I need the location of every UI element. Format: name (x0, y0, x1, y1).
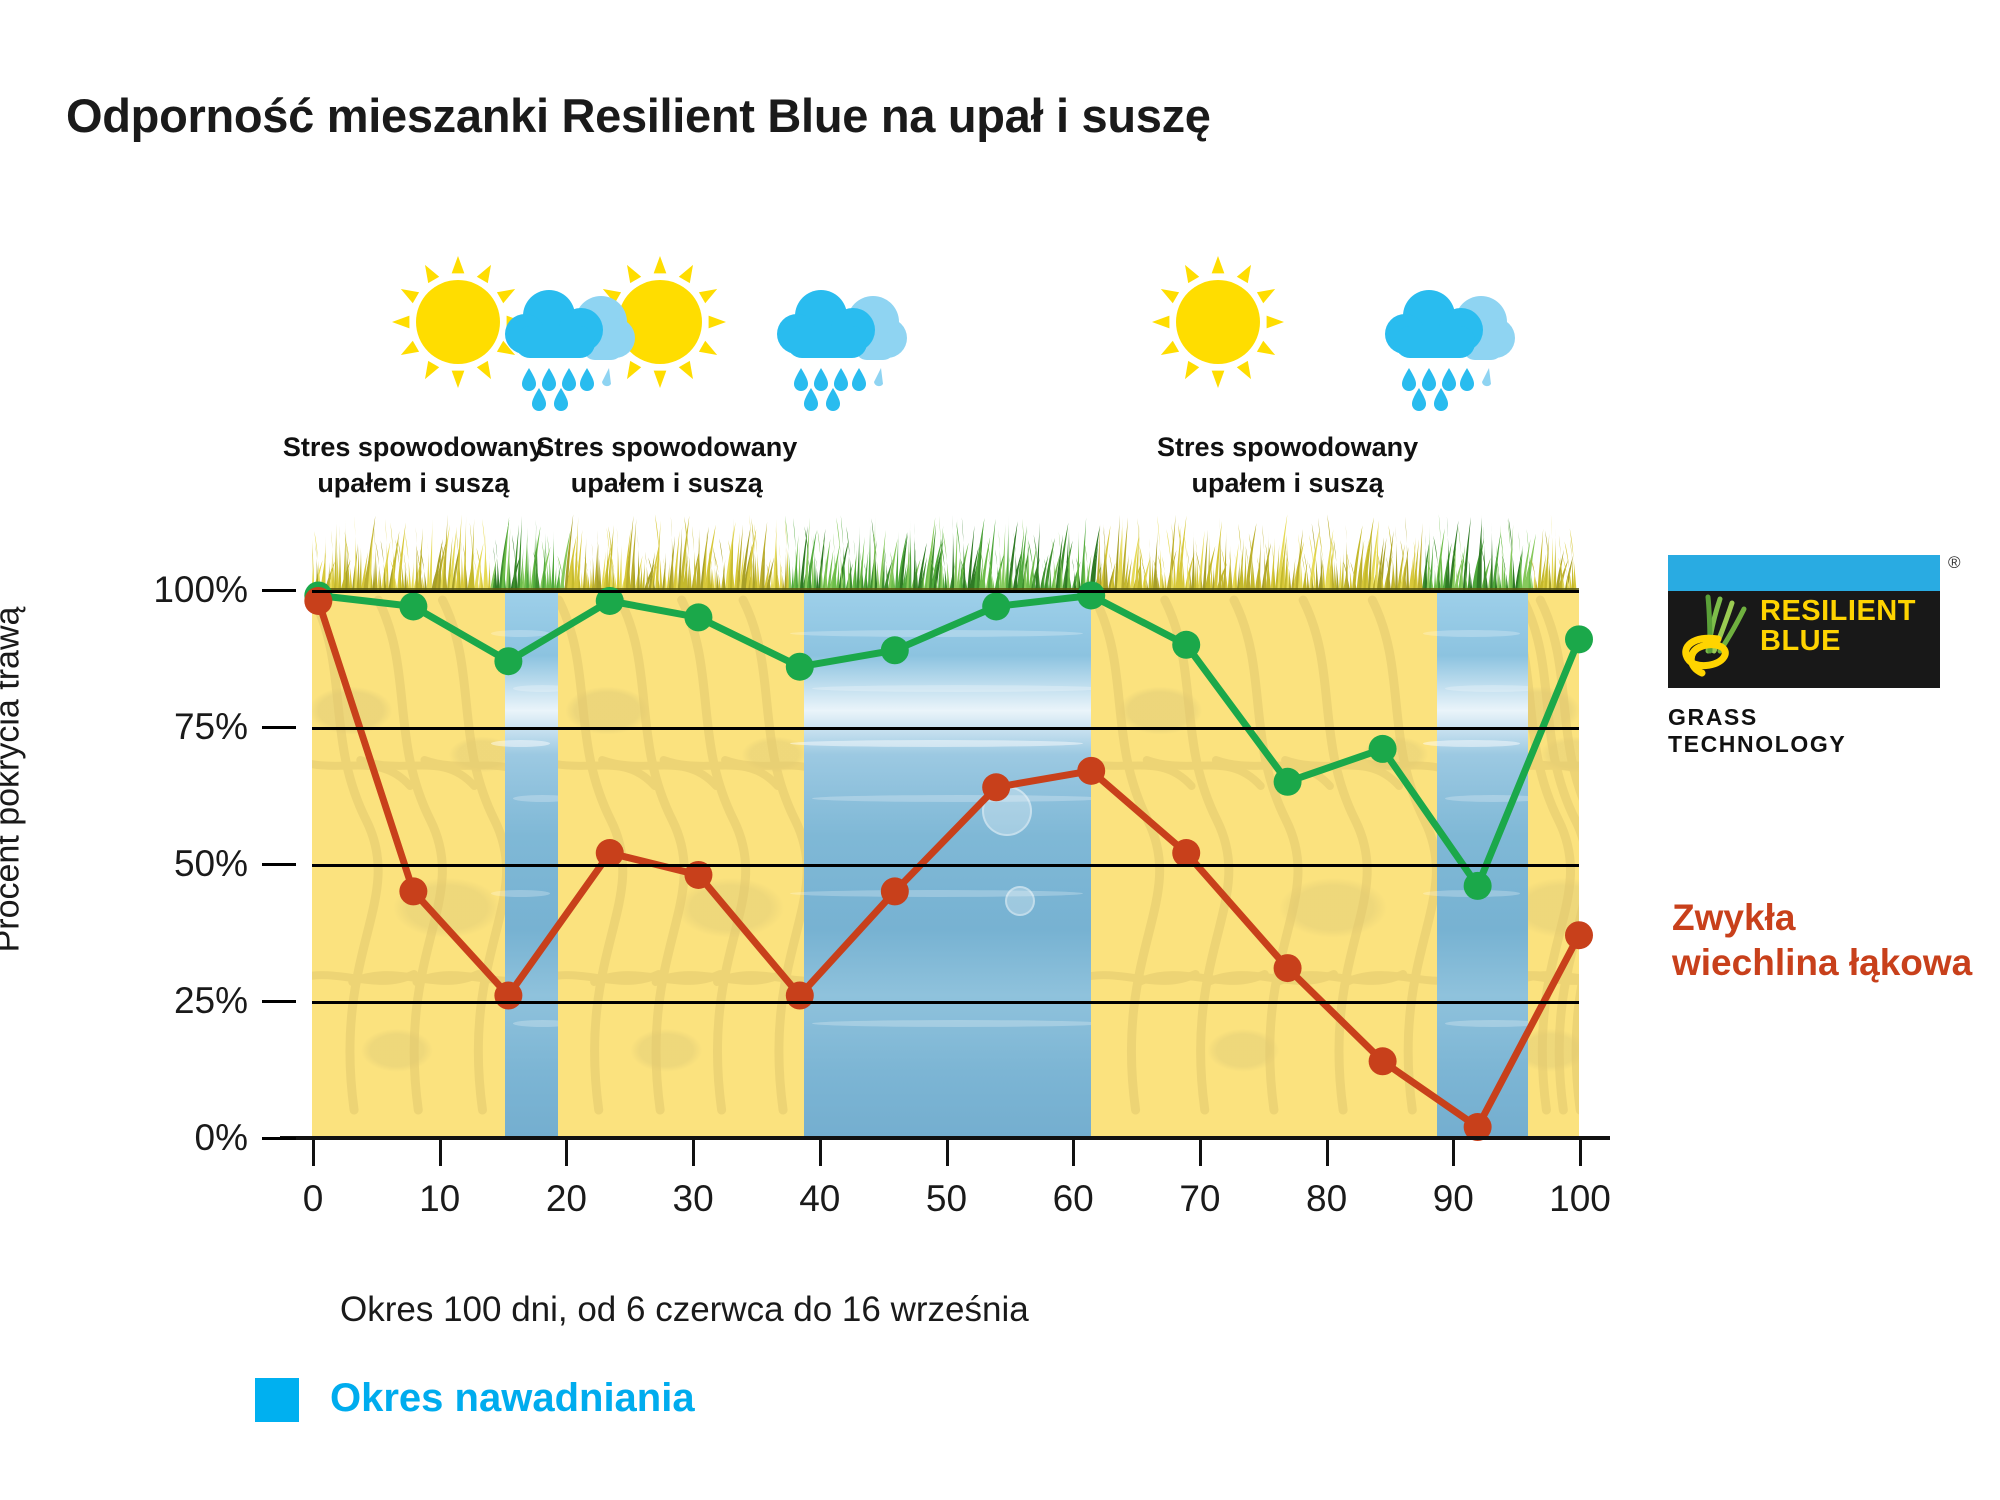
sun-icon (1148, 252, 1288, 392)
gridline (312, 727, 1579, 730)
x-axis-tick (1579, 1140, 1582, 1166)
stress-label-line2: upałem i suszą (1138, 466, 1438, 502)
x-axis-tick (1199, 1140, 1202, 1166)
logo-name-line1: RESILIENT (1760, 597, 1916, 627)
x-axis-tick-label: 10 (419, 1178, 460, 1220)
gridline (312, 1001, 1579, 1004)
rain-cloud-icon (769, 272, 919, 422)
page-title: Odporność mieszanki Resilient Blue na up… (66, 88, 1211, 143)
logo-wordmark: RESILIENT BLUE (1760, 597, 1916, 656)
grass-swirl-icon (1674, 591, 1770, 687)
x-axis-tick-label: 70 (1179, 1178, 1220, 1220)
logo-box: RESILIENT BLUE ® (1668, 555, 1940, 688)
stress-label-line1: Stres spowodowany (1138, 430, 1438, 466)
logo-name-line2: BLUE (1760, 627, 1916, 657)
x-axis-tick-label: 0 (303, 1178, 324, 1220)
stress-label-line2: upałem i suszą (517, 466, 817, 502)
rain-cloud-icon (1377, 272, 1527, 422)
grass-blades (312, 508, 1579, 594)
x-axis-tick-label: 80 (1306, 1178, 1347, 1220)
x-axis-tick (439, 1140, 442, 1166)
rain-cloud-icon (497, 272, 647, 422)
irrigation-legend-swatch (255, 1378, 299, 1422)
ordinary-grass-series-label: Zwykła wiechlina łąkowa (1672, 895, 1972, 985)
y-axis-tick-label: 0% (108, 1117, 248, 1159)
turf-strip (312, 508, 1579, 594)
stress-label-line1: Stres spowodowany (517, 430, 817, 466)
y-axis-title: Procent pokrycia trawą (0, 530, 28, 1030)
irrigation-legend-label: Okres nawadniania (330, 1376, 695, 1421)
y-axis-tick-label: 100% (108, 569, 248, 611)
x-axis-tick (312, 1140, 315, 1166)
heat-drought-stress-label: Stres spowodowanyupałem i suszą (517, 430, 817, 501)
x-axis-tick-label: 30 (673, 1178, 714, 1220)
ordinary-grass-label-line2: wiechlina łąkowa (1672, 940, 1972, 985)
x-axis-tick (1326, 1140, 1329, 1166)
resilient-blue-logo: RESILIENT BLUE ® GRASS TECHNOLOGY (1668, 555, 1940, 758)
x-axis-tick (946, 1140, 949, 1166)
y-axis-tick (262, 589, 296, 592)
x-axis-tick (1072, 1140, 1075, 1166)
heat-drought-stress-label: Stres spowodowanyupałem i suszą (1138, 430, 1438, 501)
registered-mark: ® (1948, 553, 1961, 573)
x-axis-title: Okres 100 dni, od 6 czerwca do 16 wrześn… (340, 1290, 1029, 1330)
ordinary-grass-label-line1: Zwykła (1672, 895, 1972, 940)
x-axis-tick-label: 100 (1549, 1178, 1611, 1220)
x-axis-tick-label: 50 (926, 1178, 967, 1220)
y-axis-tick-label: 75% (108, 706, 248, 748)
x-axis-tick (1452, 1140, 1455, 1166)
logo-tagline: GRASS TECHNOLOGY (1668, 704, 1940, 758)
x-axis-tick-label: 90 (1433, 1178, 1474, 1220)
y-axis-tick (262, 1000, 296, 1003)
y-axis-tick-label: 25% (108, 980, 248, 1022)
x-axis-tick-label: 60 (1053, 1178, 1094, 1220)
gridline (312, 590, 1579, 593)
x-axis-tick (819, 1140, 822, 1166)
logo-blue-band (1668, 555, 1940, 591)
y-axis-tick-label: 50% (108, 843, 248, 885)
x-axis-tick-label: 20 (546, 1178, 587, 1220)
y-axis-tick (262, 726, 296, 729)
y-axis-tick (262, 863, 296, 866)
y-axis-tick (262, 1137, 296, 1140)
gridline (312, 864, 1579, 867)
x-axis-tick (565, 1140, 568, 1166)
x-axis-tick (692, 1140, 695, 1166)
x-axis-tick-label: 40 (799, 1178, 840, 1220)
